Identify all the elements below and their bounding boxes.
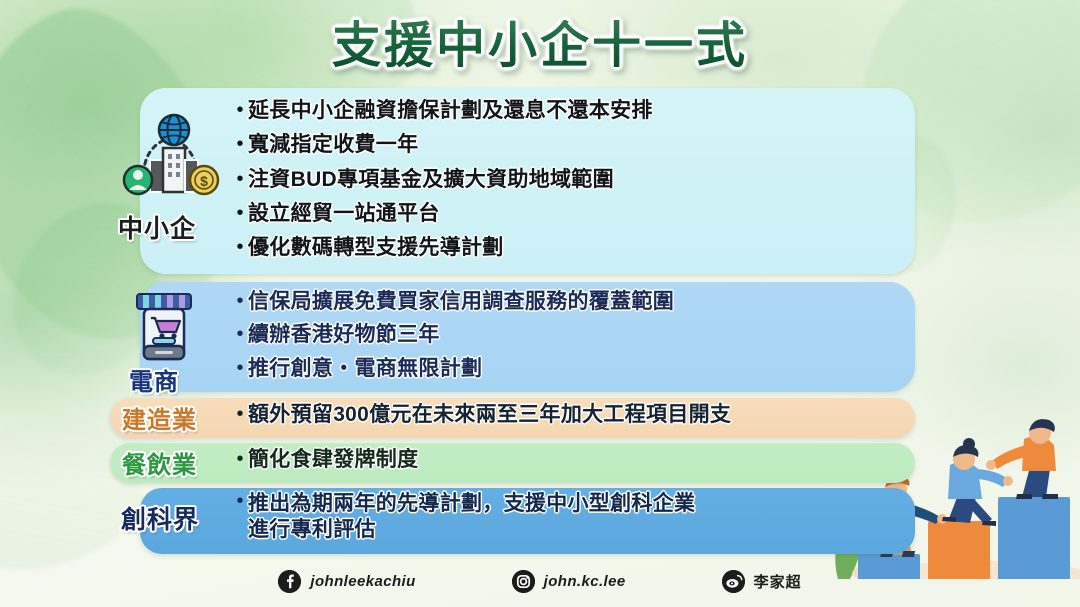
list-item: • 推出為期兩年的先導計劃，支援中小型創科企業 進行專利評估 bbox=[232, 491, 922, 543]
list-item-text: 優化數碼轉型支援先導計劃 bbox=[248, 237, 504, 259]
bullet-icon: • bbox=[232, 100, 248, 120]
awning-icon bbox=[137, 294, 191, 309]
list-item: • 注資BUD專項基金及擴大資助地域範圍 bbox=[232, 169, 922, 191]
social-instagram[interactable]: john.kc.lee bbox=[512, 570, 626, 593]
instagram-icon bbox=[512, 570, 535, 593]
bullet-icon: • bbox=[232, 491, 248, 511]
weibo-icon bbox=[722, 570, 745, 593]
list-item: • 優化數碼轉型支援先導計劃 bbox=[232, 237, 922, 259]
list-item-text: 簡化食肆發牌制度 bbox=[248, 449, 418, 471]
list-item: • 簡化食肆發牌制度 bbox=[232, 449, 922, 471]
instagram-handle: john.kc.lee bbox=[544, 573, 626, 590]
bullet-icon: • bbox=[232, 169, 248, 189]
facebook-handle: johnleekachiu bbox=[310, 573, 415, 590]
list-item: • 寬減指定收費一年 bbox=[232, 134, 922, 156]
list-item: • 延長中小企融資擔保計劃及還息不還本安排 bbox=[232, 100, 922, 122]
social-facebook[interactable]: johnleekachiu bbox=[278, 570, 415, 593]
facebook-icon bbox=[278, 570, 301, 593]
list-item-text: 推出為期兩年的先導計劃，支援中小型創科企業 進行專利評估 bbox=[248, 491, 695, 543]
svg-text:$: $ bbox=[200, 173, 208, 189]
bullet-icon: • bbox=[232, 449, 248, 469]
page-title: 支援中小企十一式 bbox=[0, 20, 1080, 73]
bullet-icon: • bbox=[232, 203, 248, 223]
section-label-sme: 中小企 bbox=[118, 209, 196, 245]
person-badge-icon bbox=[124, 166, 152, 194]
bullet-icon: • bbox=[232, 404, 248, 424]
section-label-construction: 建造業 bbox=[122, 400, 197, 435]
bullet-list-ecommerce: • 信保局擴展免費買家信用調查服務的覆蓋範圍 • 續辦香港好物節三年 • 推行創… bbox=[232, 291, 922, 391]
section-label-ecommerce: 電商 bbox=[129, 362, 179, 397]
list-item-text: 寬減指定收費一年 bbox=[248, 134, 418, 156]
list-item-text: 額外預留300億元在未來兩至三年加大工程項目開支 bbox=[248, 404, 731, 426]
list-item-text: 延長中小企融資擔保計劃及還息不還本安排 bbox=[248, 100, 653, 122]
list-item-text: 續辦香港好物節三年 bbox=[248, 324, 440, 346]
list-item: • 推行創意・電商無限計劃 bbox=[232, 358, 922, 380]
section-label-innovation: 創科界 bbox=[121, 500, 199, 536]
online-shop-icon bbox=[131, 288, 197, 364]
sme-network-icon: $ bbox=[120, 112, 220, 208]
list-item: • 續辦香港好物節三年 bbox=[232, 324, 922, 346]
bullet-icon: • bbox=[232, 324, 248, 344]
bullet-icon: • bbox=[232, 134, 248, 154]
bullet-list-catering: • 簡化食肆發牌制度 bbox=[232, 449, 922, 471]
weibo-handle: 李家超 bbox=[754, 571, 802, 592]
list-item-text: 設立經貿一站通平台 bbox=[248, 203, 440, 225]
social-weibo[interactable]: 李家超 bbox=[722, 570, 802, 593]
person-right bbox=[986, 419, 1058, 499]
bullet-list-construction: • 額外預留300億元在未來兩至三年加大工程項目開支 bbox=[232, 404, 922, 426]
bullet-list-innovation: • 推出為期兩年的先導計劃，支援中小型創科企業 進行專利評估 bbox=[232, 491, 922, 543]
slide-background: 支援中小企十一式 bbox=[0, 0, 1080, 607]
list-item: • 信保局擴展免費買家信用調查服務的覆蓋範圍 bbox=[232, 291, 922, 313]
list-item: • 額外預留300億元在未來兩至三年加大工程項目開支 bbox=[232, 404, 922, 426]
list-item: • 設立經貿一站通平台 bbox=[232, 203, 922, 225]
list-item-text: 推行創意・電商無限計劃 bbox=[248, 358, 482, 380]
bullet-icon: • bbox=[232, 291, 248, 311]
list-item-text: 注資BUD專項基金及擴大資助地域範圍 bbox=[248, 169, 614, 191]
section-label-catering: 餐飲業 bbox=[122, 445, 197, 480]
list-item-text: 信保局擴展免費買家信用調查服務的覆蓋範圍 bbox=[248, 291, 674, 313]
coin-icon: $ bbox=[190, 166, 218, 194]
bullet-icon: • bbox=[232, 237, 248, 257]
social-footer: johnleekachiu john.kc.lee bbox=[0, 555, 1080, 607]
globe-icon bbox=[159, 115, 189, 145]
bullet-icon: • bbox=[232, 358, 248, 378]
bullet-list-sme: • 延長中小企融資擔保計劃及還息不還本安排 • 寬減指定收費一年 • 注資BUD… bbox=[232, 100, 922, 271]
